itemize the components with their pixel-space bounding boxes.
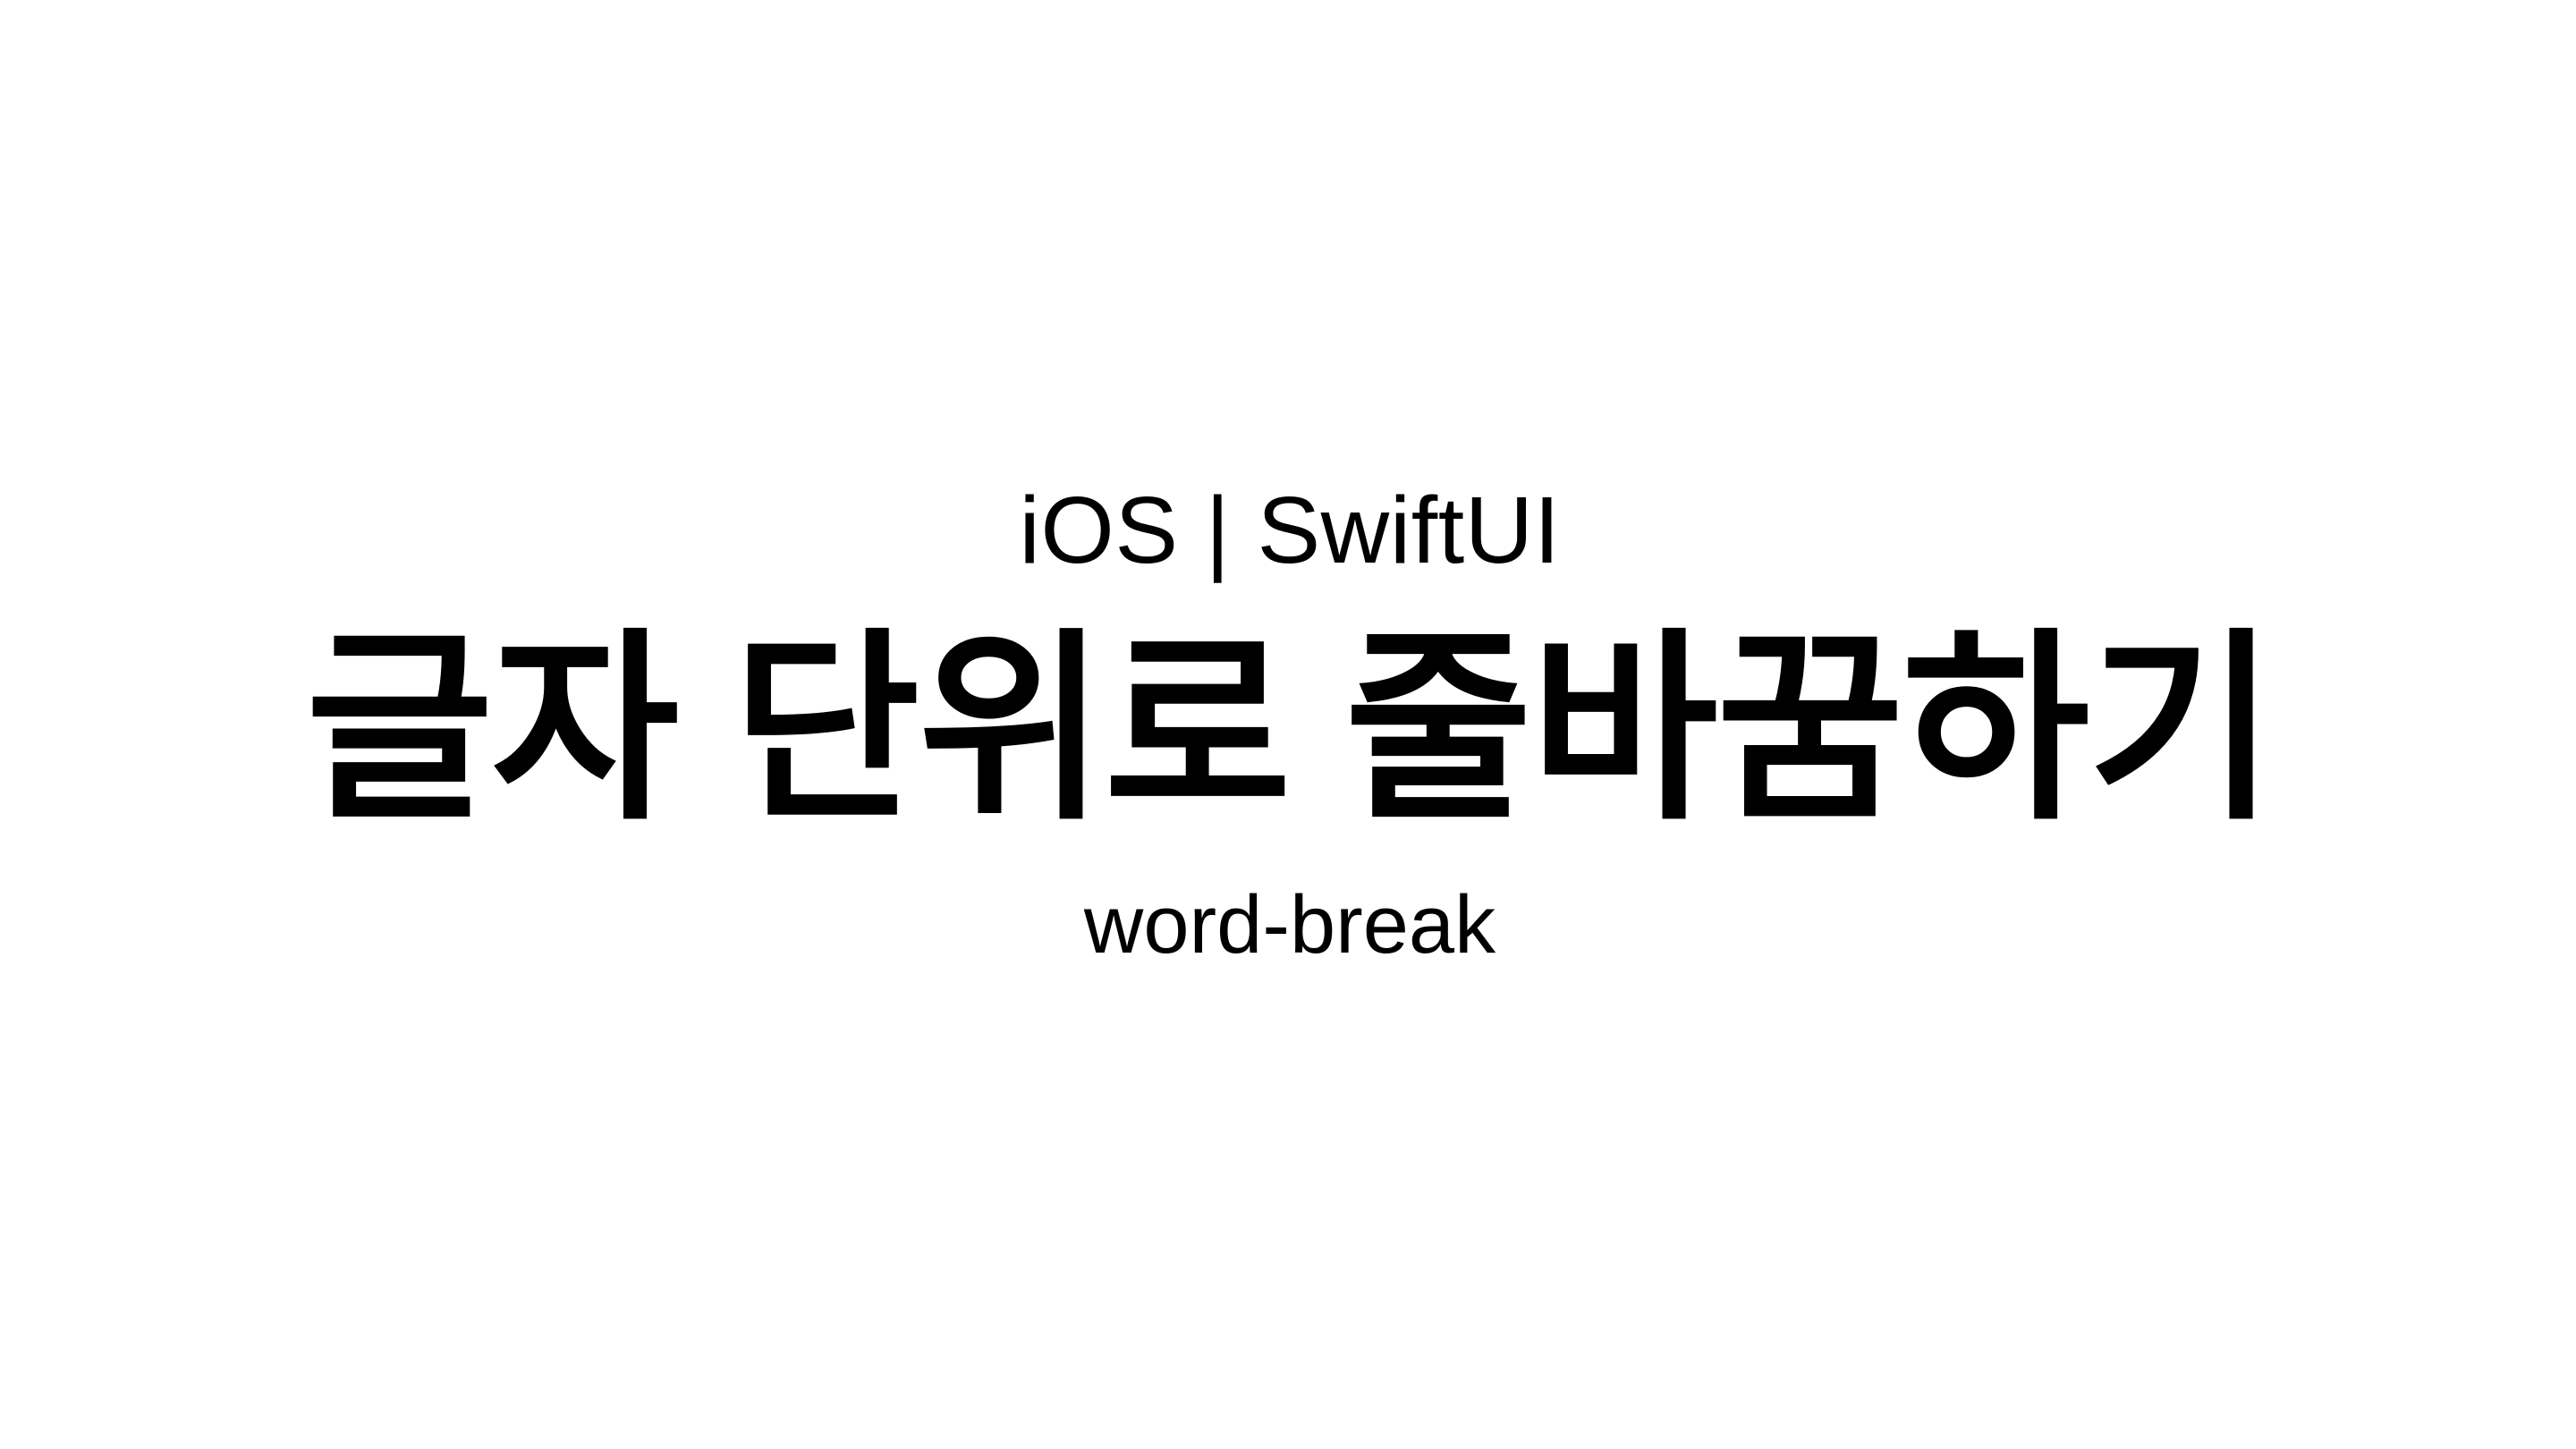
page-title: 글자 단위로 줄바꿈하기 xyxy=(306,628,2274,832)
topic-caption: word-break xyxy=(1084,884,1496,966)
platform-subtitle: iOS | SwiftUI xyxy=(1019,483,1560,578)
title-slide: iOS | SwiftUI 글자 단위로 줄바꿈하기 word-break xyxy=(0,0,2576,1449)
content-stack: iOS | SwiftUI 글자 단위로 줄바꿈하기 word-break xyxy=(0,0,2576,1449)
